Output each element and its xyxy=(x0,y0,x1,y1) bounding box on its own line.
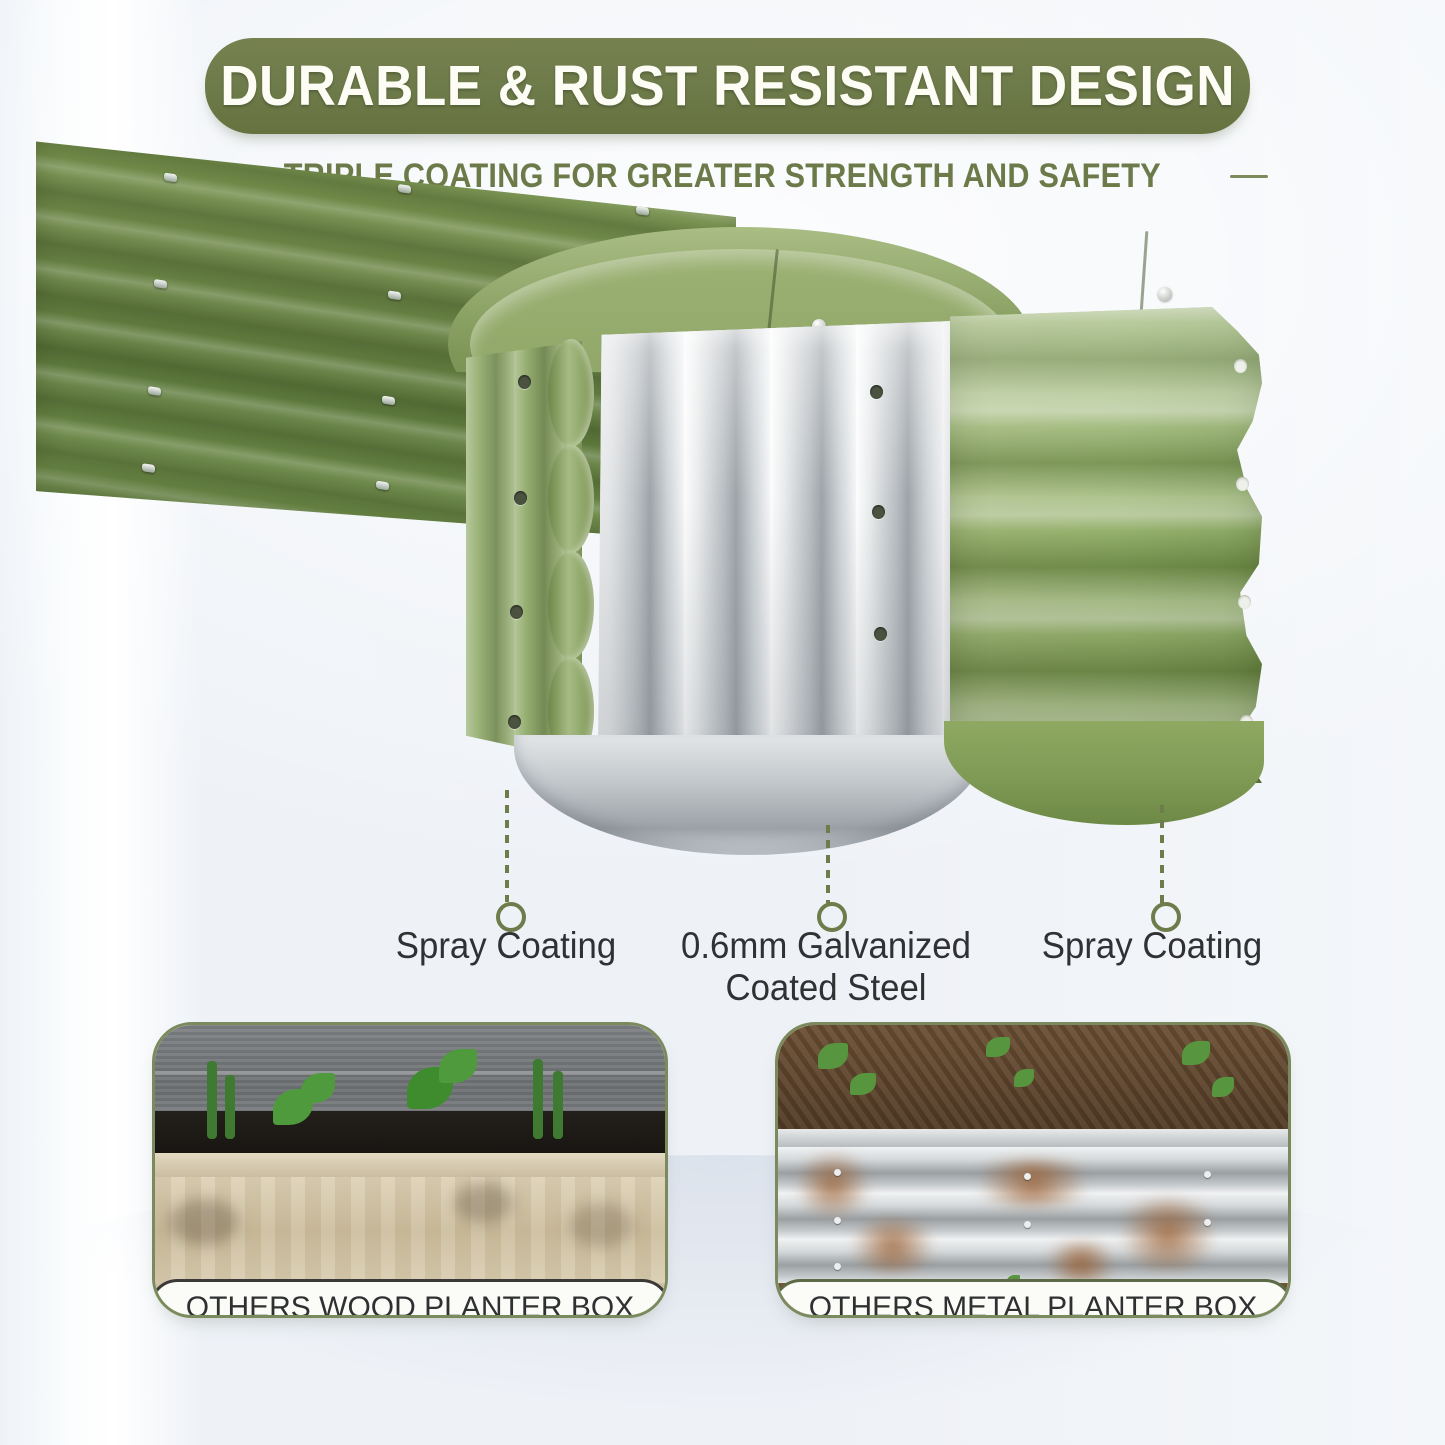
corrugated-metal-wall xyxy=(778,1147,1288,1287)
bolt-hole xyxy=(870,385,883,399)
wood-front-board xyxy=(155,1177,665,1289)
rosemary-plant xyxy=(207,1061,217,1139)
product-hero-image xyxy=(0,205,1445,905)
wood-top-rail xyxy=(155,1153,665,1179)
leader-line-1 xyxy=(505,790,509,902)
headline-text: DURABLE & RUST RESISTANT DESIGN xyxy=(220,53,1235,119)
infographic-page: DURABLE & RUST RESISTANT DESIGN TRIPLE C… xyxy=(0,0,1445,1445)
bed-bottom-rim-coated xyxy=(944,721,1264,825)
comparison-card-metal: OTHERS METAL PLANTER BOX xyxy=(775,1022,1291,1318)
product-bed xyxy=(452,223,1262,863)
bolt-hole xyxy=(1236,477,1249,491)
bolt-hole xyxy=(872,505,885,519)
metal-planter-photo xyxy=(778,1025,1288,1315)
bolt-hole xyxy=(508,715,521,729)
coating-layer-right xyxy=(950,307,1262,783)
callout-label: Spray Coating xyxy=(964,925,1340,967)
bed-bottom-rim-steel xyxy=(514,735,984,855)
bolt-hole xyxy=(518,375,531,389)
rosemary-plant xyxy=(533,1059,543,1139)
scallop-edge xyxy=(548,339,594,447)
scallop-edge xyxy=(548,551,594,659)
comparison-section: OTHERS WOOD PLANTER BOX xyxy=(0,1022,1445,1422)
rosemary-plant xyxy=(553,1071,563,1139)
rosemary-plant xyxy=(225,1075,235,1139)
dash-right-icon xyxy=(1230,175,1268,178)
scallop-edge xyxy=(548,445,594,553)
callout-label-line1: 0.6mm Galvanized xyxy=(638,925,1014,967)
callout-spray-coating-right: Spray Coating xyxy=(964,925,1340,967)
rivet xyxy=(1158,287,1172,301)
card-label-metal: OTHERS METAL PLANTER BOX xyxy=(775,1279,1291,1318)
bolt-hole xyxy=(510,605,523,619)
bolt-hole xyxy=(1234,359,1247,373)
bolt-hole xyxy=(1238,595,1251,609)
bolt-hole xyxy=(514,491,527,505)
callout-galvanized-steel: 0.6mm Galvanized Coated Steel xyxy=(638,925,1014,1009)
leader-line-2 xyxy=(826,825,830,903)
card-label-wood: OTHERS WOOD PLANTER BOX xyxy=(152,1279,668,1318)
bolt-hole xyxy=(874,627,887,641)
comparison-card-wood: OTHERS WOOD PLANTER BOX xyxy=(152,1022,668,1318)
callout-label-line2: Coated Steel xyxy=(638,967,1014,1009)
leader-line-3 xyxy=(1160,805,1164,903)
headline-banner: DURABLE & RUST RESISTANT DESIGN xyxy=(205,38,1250,134)
galvanized-steel-layer xyxy=(598,321,954,783)
wood-planter-photo xyxy=(155,1025,665,1315)
